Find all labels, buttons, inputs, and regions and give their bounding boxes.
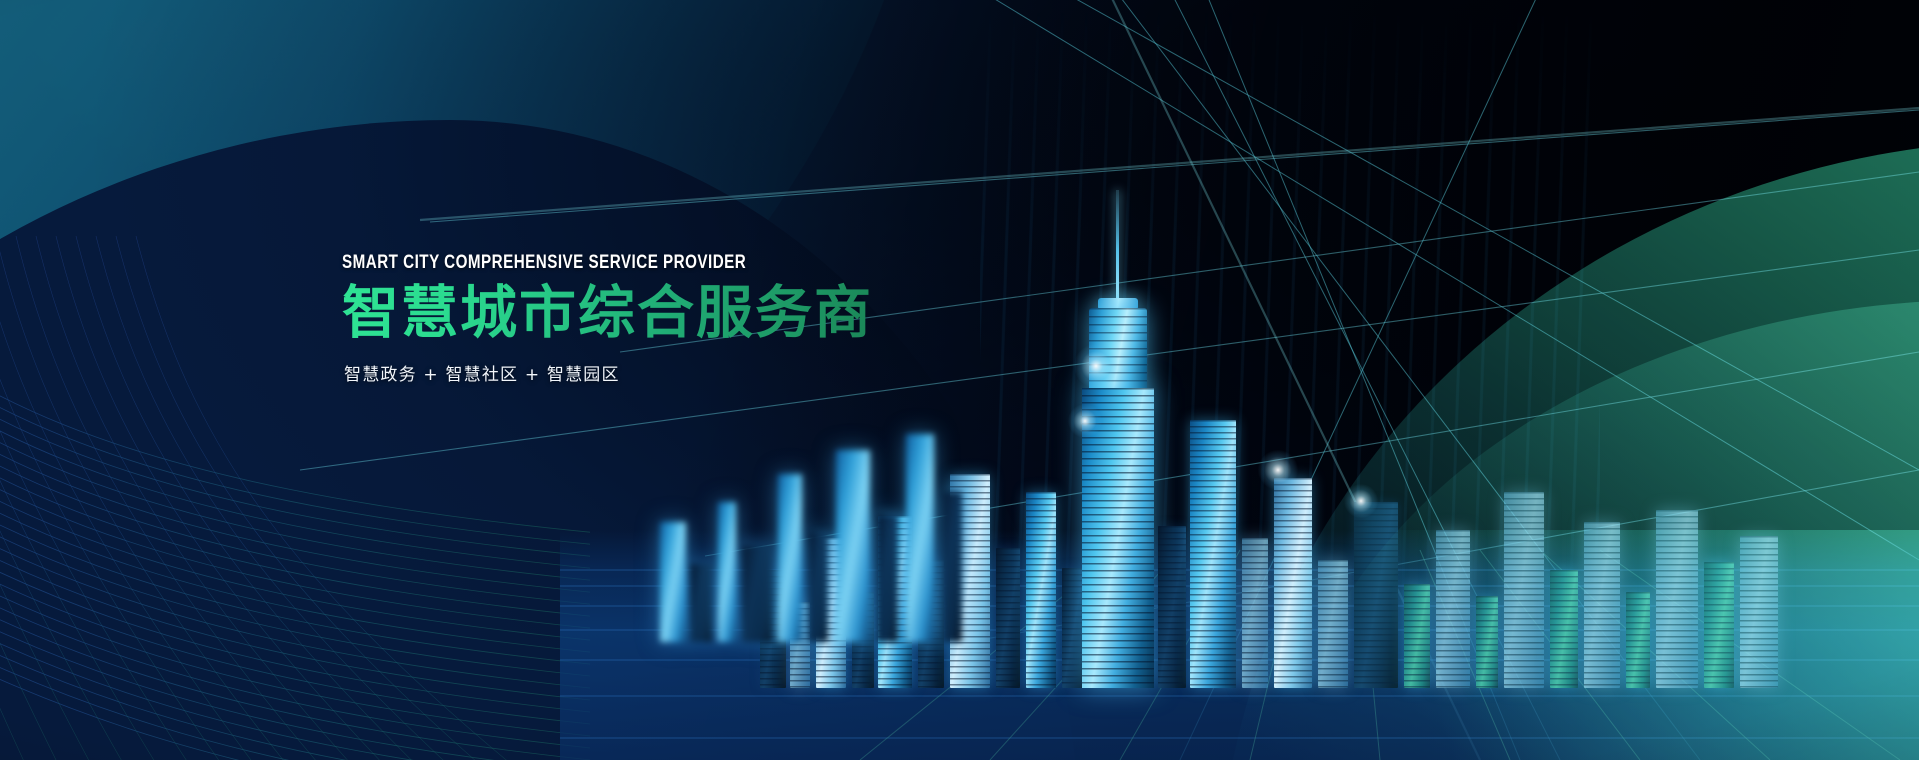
- hero-subline: 智慧政务 + 智慧社区 + 智慧园区: [344, 360, 982, 385]
- foreground-bokeh-blocks: [660, 342, 1360, 642]
- tower-spire: [1116, 190, 1119, 300]
- hero-eyebrow-text: SMART CITY COMPREHENSIVE SERVICE PROVIDE…: [342, 252, 854, 274]
- hero-copy-block: SMART CITY COMPREHENSIVE SERVICE PROVIDE…: [342, 252, 982, 385]
- hero-headline: 智慧城市综合服务商: [342, 282, 982, 346]
- smart-city-hero-banner: SMART CITY COMPREHENSIVE SERVICE PROVIDE…: [0, 0, 1919, 760]
